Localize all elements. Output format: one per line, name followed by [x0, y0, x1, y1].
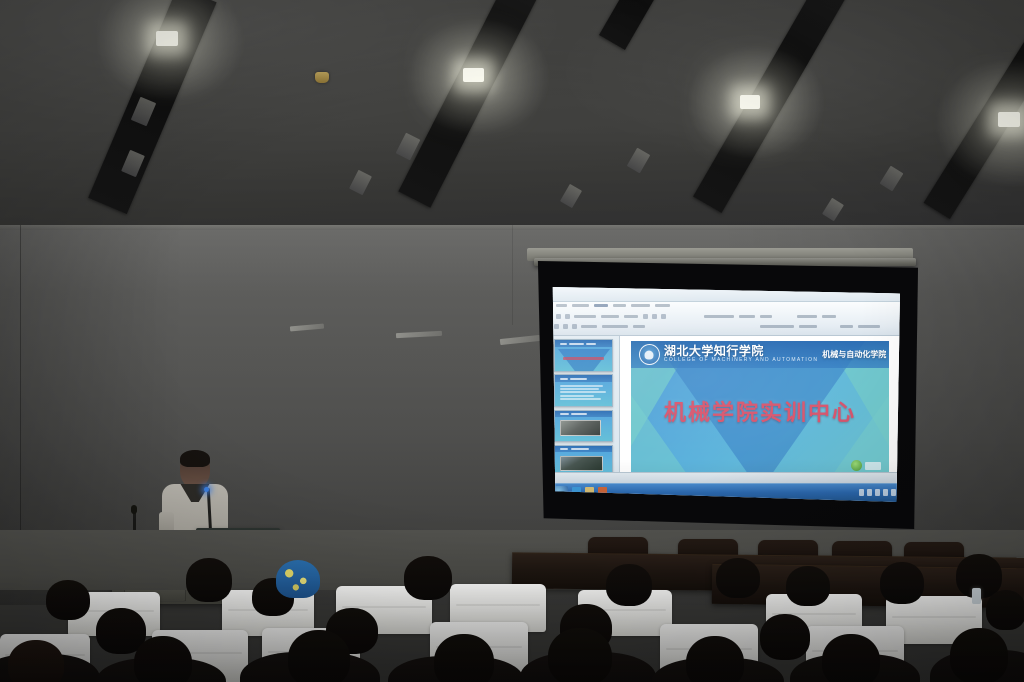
school-name-block: 湖北大学知行学院 COLLEGE OF MACHINERY AND AUTOMA… — [664, 345, 818, 363]
presenter-head — [180, 450, 210, 488]
audience-head — [686, 636, 744, 682]
ribbon-row-commands[interactable] — [550, 314, 900, 319]
ppt-status-bar — [550, 472, 900, 483]
audience-head — [880, 562, 924, 604]
thumbnail-photo — [560, 456, 604, 472]
slide-title-text: 机械学院实训中心 — [631, 395, 889, 427]
thumbnail-header-band — [555, 446, 612, 453]
sprinkler-head — [315, 72, 329, 83]
smartphone — [972, 588, 981, 604]
audience-head — [46, 580, 90, 620]
audience-head — [548, 628, 612, 682]
microphone-head-icon — [131, 505, 137, 514]
thumbnail-chevron — [558, 349, 610, 371]
projection-screen: 湖北大学知行学院 COLLEGE OF MACHINERY AND AUTOMA… — [536, 261, 918, 529]
projected-image: 湖北大学知行学院 COLLEGE OF MACHINERY AND AUTOMA… — [550, 287, 900, 502]
audience-head — [950, 628, 1008, 682]
phone-recording-attendee — [986, 590, 1024, 630]
windows-taskbar[interactable] — [550, 483, 900, 502]
audience-head — [8, 640, 64, 682]
blue-patterned-headscarf — [276, 560, 320, 598]
audience-head — [760, 614, 810, 660]
audience-head — [434, 634, 494, 682]
ceiling-light-3 — [740, 95, 760, 109]
audience-head — [716, 558, 760, 598]
audience-head — [186, 558, 232, 602]
system-tray[interactable] — [859, 489, 900, 496]
logo-circle-icon — [851, 460, 862, 471]
ribbon-row-subcommands[interactable] — [550, 324, 900, 329]
audience-area — [0, 530, 1024, 682]
slide-header-banner: 湖北大学知行学院 COLLEGE OF MACHINERY AND AUTOMA… — [631, 341, 889, 368]
start-orb-icon[interactable] — [552, 486, 568, 499]
powerpoint-icon[interactable] — [598, 487, 607, 498]
audience-head — [822, 634, 880, 682]
ceiling-light-2 — [463, 68, 484, 82]
explorer-icon[interactable] — [585, 487, 594, 498]
ppt-titlebar — [550, 287, 900, 302]
thumbnail-title-bar — [563, 357, 604, 360]
ceiling-light-4 — [998, 112, 1020, 127]
lecture-hall-photo: 湖北大学知行学院 COLLEGE OF MACHINERY AND AUTOMA… — [0, 0, 1024, 682]
thumbnail-body — [555, 347, 612, 371]
ceiling — [0, 0, 1024, 232]
department-name-cn: 机械与自动化学院 — [822, 349, 886, 360]
current-slide[interactable]: 湖北大学知行学院 COLLEGE OF MACHINERY AND AUTOMA… — [631, 341, 889, 477]
audience-head — [786, 566, 830, 606]
ppt-ribbon[interactable] — [550, 302, 900, 336]
thumbnail-body — [555, 417, 612, 441]
thumbnail-body — [555, 382, 612, 406]
thumbnail-header-band — [555, 411, 612, 418]
slide-editing-stage[interactable]: 湖北大学知行学院 COLLEGE OF MACHINERY AND AUTOMA… — [620, 336, 900, 482]
browser-icon[interactable] — [572, 487, 581, 498]
audience-head — [288, 630, 350, 682]
powerpoint-window: 湖北大学知行学院 COLLEGE OF MACHINERY AND AUTOMA… — [550, 287, 900, 502]
slide-thumbnail-3[interactable] — [554, 410, 613, 442]
school-name-en: COLLEGE OF MACHINERY AND AUTOMATION — [664, 358, 818, 364]
thumbnail-header-band — [555, 375, 612, 382]
audience-head — [606, 564, 652, 606]
slide-thumbnail-2[interactable] — [554, 374, 613, 406]
ribbon-row-tabs[interactable] — [550, 304, 900, 307]
slide-thumbnail-1[interactable] — [554, 339, 613, 371]
microphone-indicator-led — [204, 487, 209, 492]
thumbnail-header-band — [555, 340, 612, 347]
logo-wordmark — [865, 462, 881, 470]
ceiling-light-1 — [156, 31, 178, 46]
thumbnail-photo — [560, 420, 601, 436]
presenter-hair — [180, 450, 210, 467]
slide-footer-logo — [851, 460, 881, 471]
university-crest-icon — [639, 344, 660, 365]
wall-seam-right — [512, 225, 513, 325]
audience-head — [134, 636, 192, 682]
audience-head — [404, 556, 452, 600]
wall-seam-left — [20, 225, 21, 575]
slide-thumbnail-panel[interactable] — [550, 336, 620, 482]
